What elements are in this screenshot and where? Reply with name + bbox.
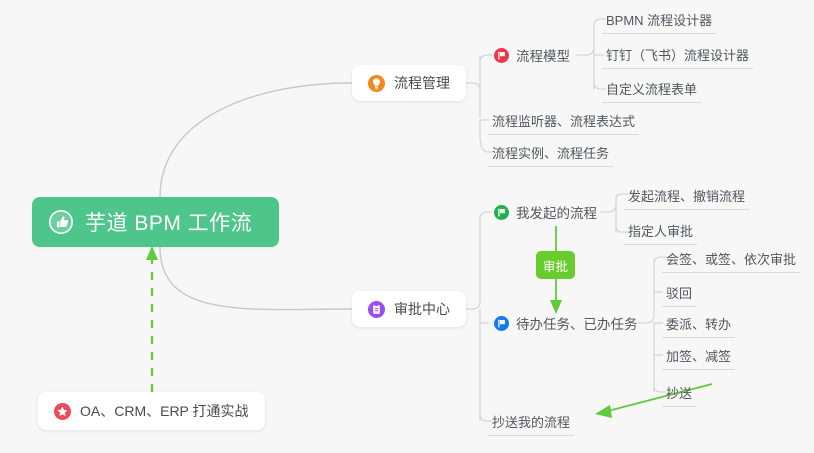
connector-root-to-approval-center xyxy=(160,247,352,310)
root-node[interactable]: 芋道 BPM 工作流 xyxy=(32,197,279,247)
connector-process-model-spine xyxy=(576,25,594,90)
leaf-node-start-cancel-process[interactable]: 发起流程、撤销流程 xyxy=(624,184,749,210)
flag-icon-blue xyxy=(494,316,509,331)
leaf-node-delegate-transfer[interactable]: 委派、转办 xyxy=(662,312,735,338)
flag-icon-red xyxy=(494,48,509,63)
note-label-integration: OA、CRM、ERP 打通实战 xyxy=(80,401,249,421)
leaf-node-cc[interactable]: 抄送 xyxy=(662,381,696,407)
thumbs-up-icon xyxy=(48,209,74,235)
sub-node-todo-done-tasks[interactable]: 待办任务、已办任务 xyxy=(494,312,638,334)
note-node-integration[interactable]: OA、CRM、ERP 打通实战 xyxy=(38,392,265,430)
leaf-node-dingtalk-designer[interactable]: 钉钉（飞书）流程设计器 xyxy=(602,43,753,69)
connector-my-initiated-spine xyxy=(600,199,616,233)
sub-label-my-initiated: 我发起的流程 xyxy=(516,202,597,222)
leaf-node-reject[interactable]: 驳回 xyxy=(662,281,696,307)
dashed-connector-arrow-head xyxy=(146,246,158,260)
sub-label-todo-done-tasks: 待办任务、已办任务 xyxy=(516,313,638,333)
leaf-node-bpmn-designer[interactable]: BPMN 流程设计器 xyxy=(602,8,716,34)
flag-icon-green xyxy=(494,205,509,220)
clipboard-icon xyxy=(368,301,385,318)
connector-to-process-model xyxy=(480,55,492,62)
sub-node-my-initiated[interactable]: 我发起的流程 xyxy=(494,201,597,223)
topic-label-approval-center: 审批中心 xyxy=(394,299,450,319)
topic-node-process-management[interactable]: 流程管理 xyxy=(352,65,466,101)
sub-label-process-model: 流程模型 xyxy=(516,45,570,65)
leaf-node-countersign[interactable]: 会签、或签、依次审批 xyxy=(662,247,800,273)
leaf-node-process-listener[interactable]: 流程监听器、流程表达式 xyxy=(488,109,639,135)
leaf-node-cc-to-me[interactable]: 抄送我的流程 xyxy=(488,410,574,436)
leaf-node-custom-form[interactable]: 自定义流程表单 xyxy=(602,77,701,103)
leaf-node-assignee-approval[interactable]: 指定人审批 xyxy=(624,219,697,245)
star-icon xyxy=(54,403,71,420)
arrow-cc-link-head xyxy=(595,405,612,418)
connector-todo-done-spine xyxy=(638,260,654,392)
topic-label-process-management: 流程管理 xyxy=(394,73,450,93)
root-node-label: 芋道 BPM 工作流 xyxy=(85,207,252,237)
mindmap-canvas: 芋道 BPM 工作流 流程管理 审批中心 xyxy=(0,0,814,453)
sub-node-process-model[interactable]: 流程模型 xyxy=(494,44,570,66)
lightbulb-icon xyxy=(368,75,385,92)
badge-node-approval[interactable]: 审批 xyxy=(536,251,575,279)
connector-to-my-initiated xyxy=(480,212,492,219)
topic-node-approval-center[interactable]: 审批中心 xyxy=(352,291,466,327)
connector-root-to-process-management xyxy=(160,83,352,197)
leaf-node-add-remove-sign[interactable]: 加签、减签 xyxy=(662,344,735,370)
badge-label-approval: 审批 xyxy=(543,256,568,275)
leaf-node-process-instance[interactable]: 流程实例、流程任务 xyxy=(488,141,613,167)
